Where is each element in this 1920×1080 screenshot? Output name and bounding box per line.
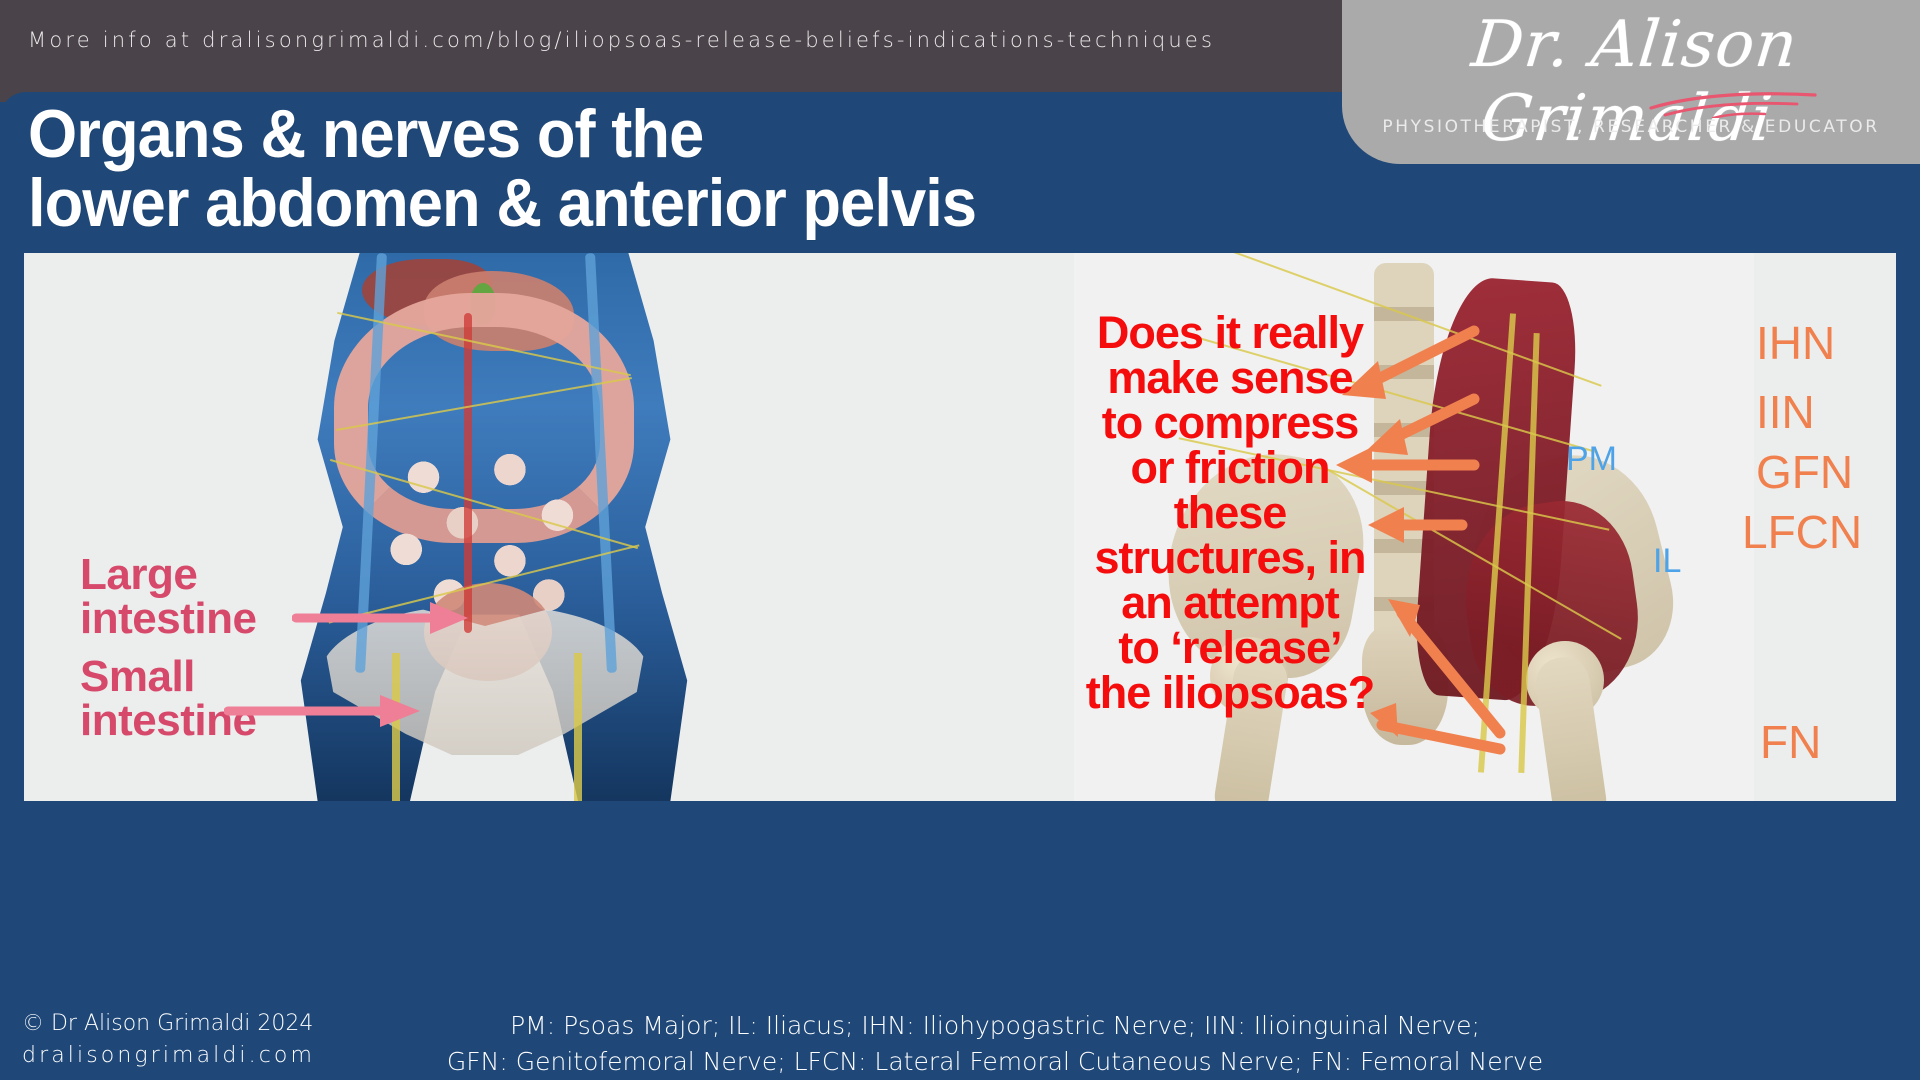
website-text[interactable]: dralisongrimaldi.com	[22, 1040, 315, 1072]
question-line-7: an attempt	[1010, 580, 1450, 625]
copyright-text: © Dr Alison Grimaldi 2024	[22, 1008, 315, 1040]
question-line-1: Does it really	[1010, 310, 1450, 355]
label-large-intestine-line1: Large	[80, 553, 256, 597]
copyright-block: © Dr Alison Grimaldi 2024 dralisongrimal…	[22, 1008, 315, 1072]
content-card: Large intestine Small intestine	[24, 253, 1896, 801]
blog-url-text: More info at dralisongrimaldi.com/blog/i…	[28, 28, 1215, 52]
question-line-3: to compress	[1010, 400, 1450, 445]
page-title-line1: Organs & nerves of the	[28, 100, 976, 169]
page-title-line2: lower abdomen & anterior pelvis	[28, 169, 976, 238]
label-il: IL	[1653, 542, 1681, 581]
swoosh-underline-icon	[1647, 92, 1827, 118]
question-callout: Does it really make sense to compress or…	[1010, 310, 1450, 715]
legend-line-1: PM: Psoas Major; IL: Iliacus; IHN: Ilioh…	[380, 1008, 1610, 1044]
label-iin: IIN	[1756, 385, 1815, 439]
artery-line	[464, 313, 472, 633]
label-gfn: GFN	[1756, 445, 1853, 499]
brand-tagline: PHYSIOTHERAPIST, RESEARCHER & EDUCATOR	[1342, 117, 1920, 137]
question-line-5: these	[1010, 490, 1450, 535]
label-lfcn: LFCN	[1742, 505, 1862, 559]
arrow-small-intestine-icon	[224, 691, 424, 731]
abbreviation-legend: PM: Psoas Major; IL: Iliacus; IHN: Ilioh…	[380, 1008, 1610, 1079]
question-line-9: the iliopsoas?	[1010, 670, 1450, 715]
brand-logo-plaque[interactable]: Dr. Alison Grimaldi PHYSIOTHERAPIST, RES…	[1342, 0, 1920, 164]
label-ihn: IHN	[1756, 316, 1835, 370]
label-pm: PM	[1566, 440, 1617, 479]
question-line-4: or friction	[1010, 445, 1450, 490]
arrow-large-intestine-icon	[292, 598, 472, 638]
label-fn: FN	[1760, 715, 1821, 769]
nerve-filament	[574, 653, 582, 801]
page-title: Organs & nerves of the lower abdomen & a…	[28, 100, 976, 239]
question-line-2: make sense	[1010, 355, 1450, 400]
question-line-8: to ‘release’	[1010, 625, 1450, 670]
label-large-intestine: Large intestine	[80, 553, 256, 641]
legend-line-2: GFN: Genitofemoral Nerve; LFCN: Lateral …	[380, 1044, 1610, 1080]
label-large-intestine-line2: intestine	[80, 597, 256, 641]
question-line-6: structures, in	[1010, 535, 1450, 580]
